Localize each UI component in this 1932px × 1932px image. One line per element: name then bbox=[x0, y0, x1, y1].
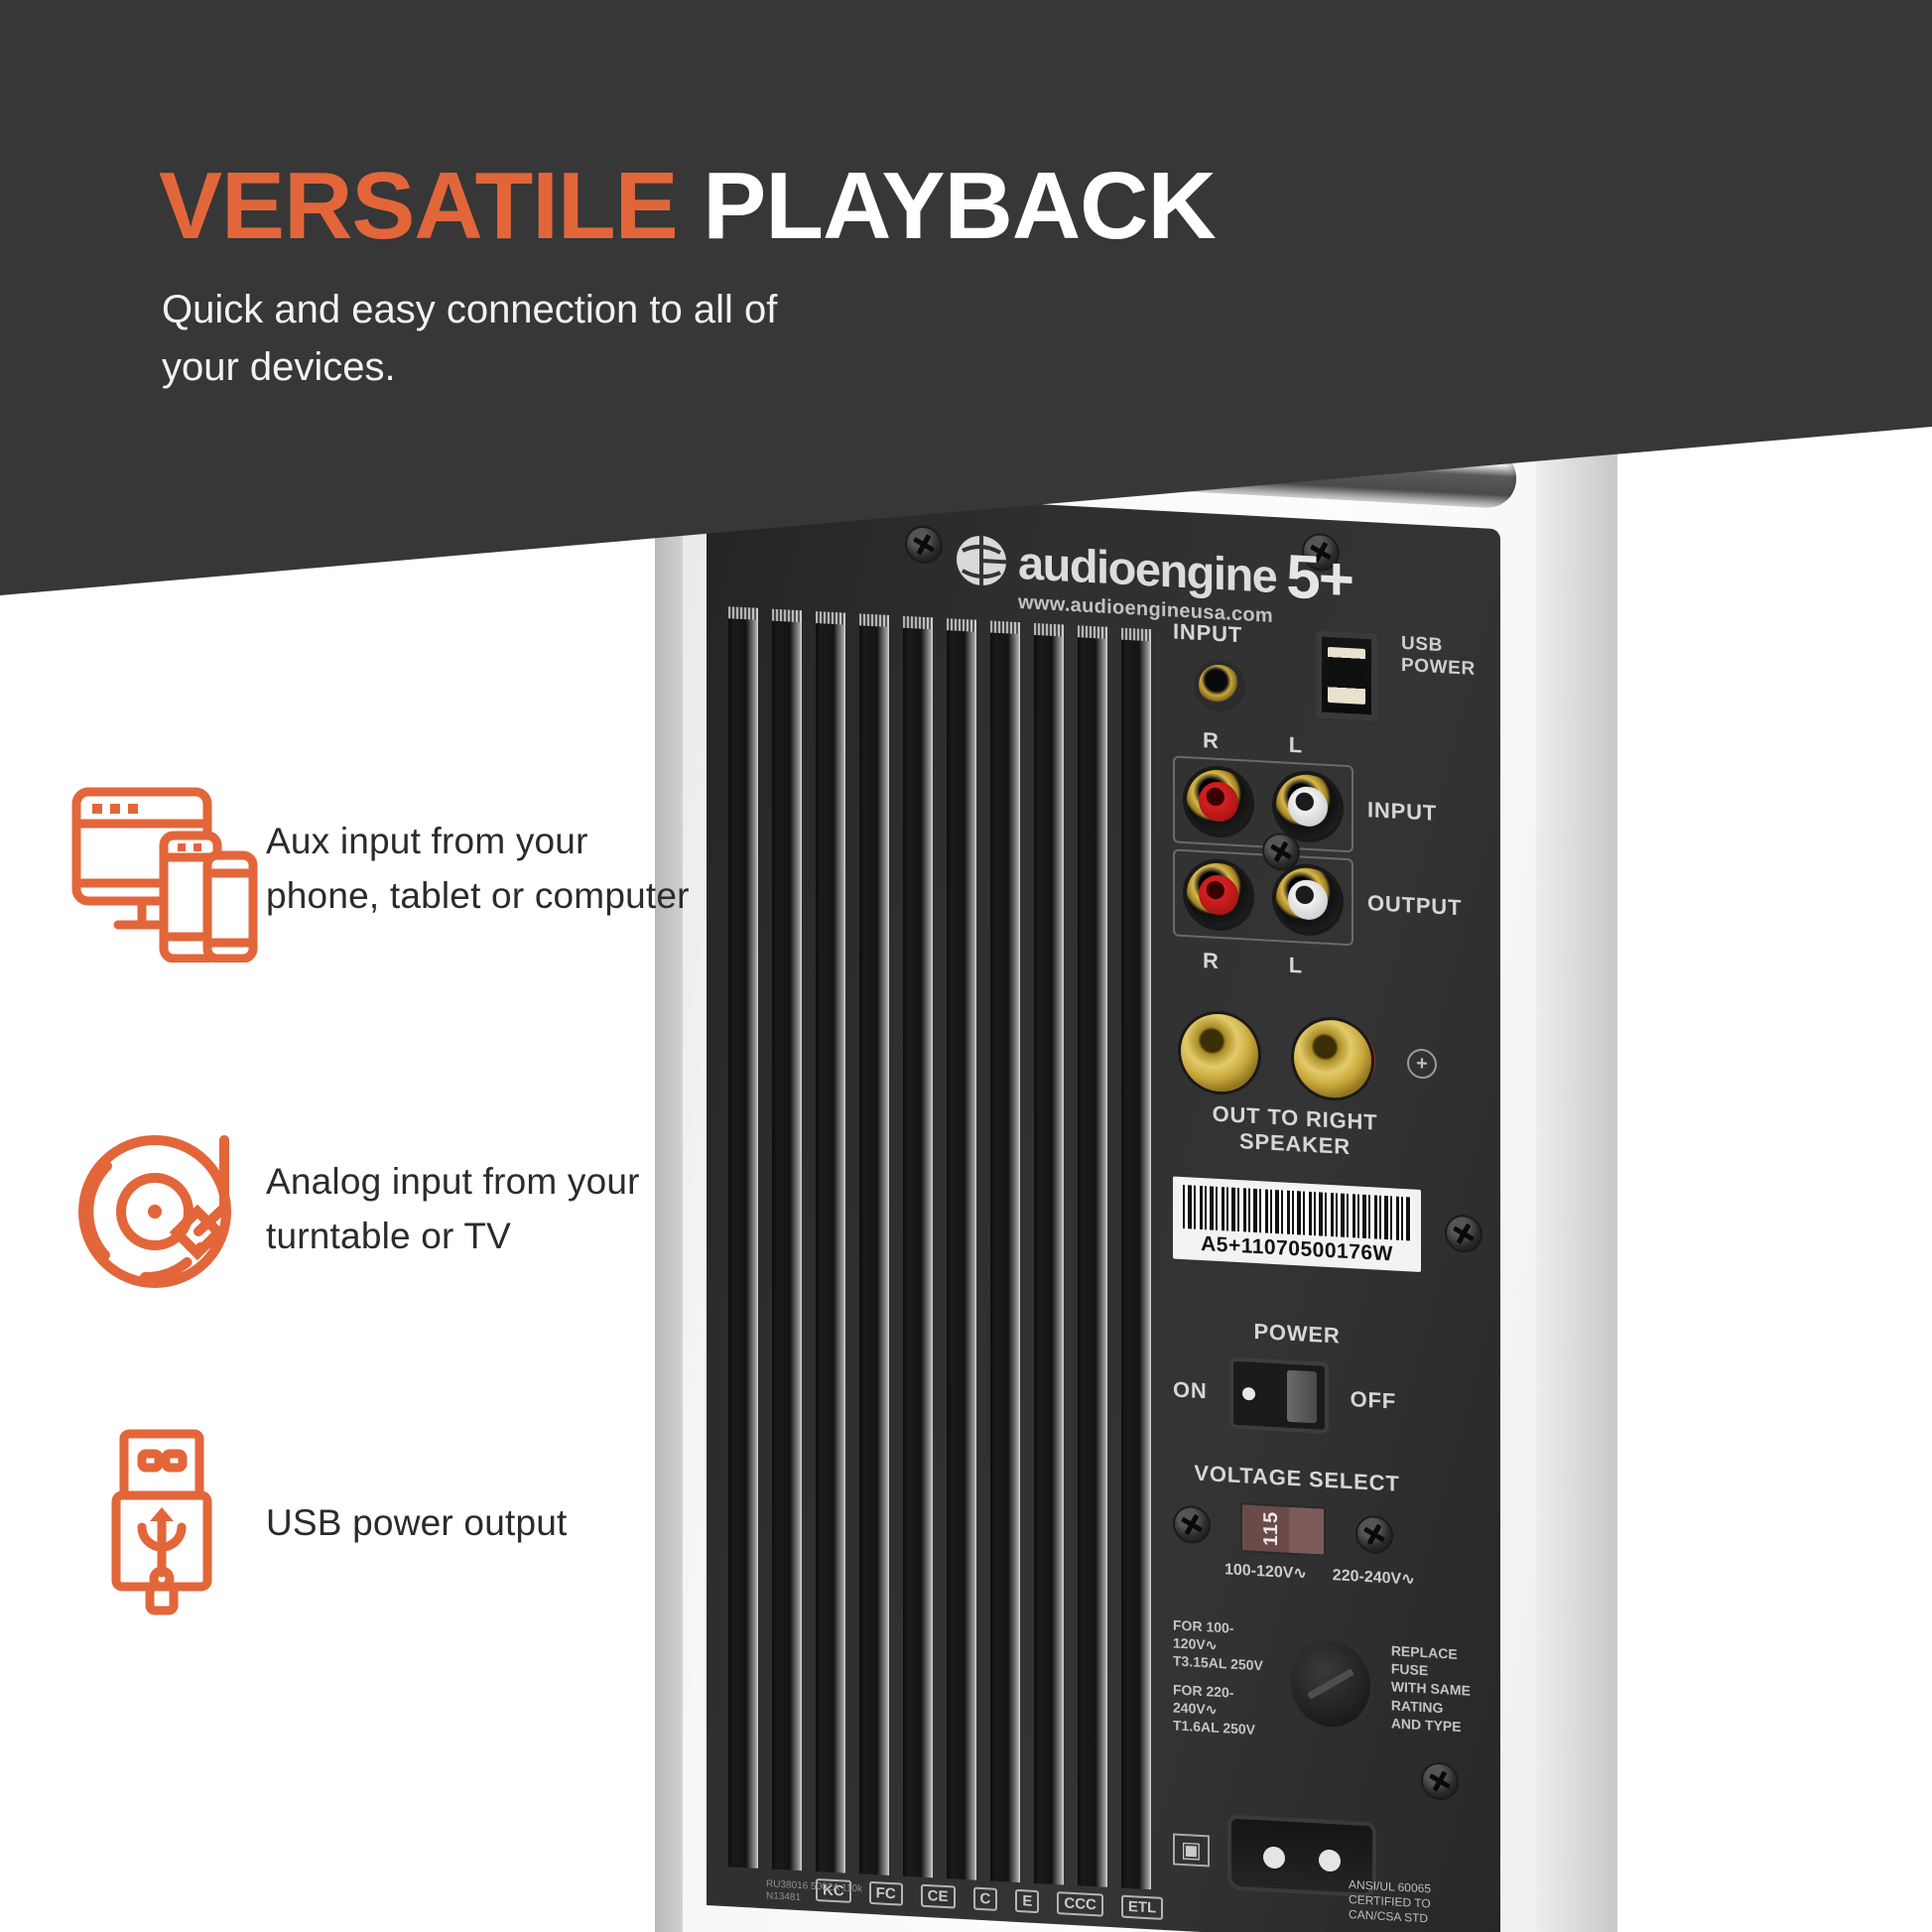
fuse-note-line1: REPLACE FUSE bbox=[1391, 1641, 1490, 1683]
headline-accent-word: VERSATILE bbox=[159, 153, 678, 259]
panel-screw-voltage-right bbox=[1355, 1514, 1393, 1554]
page-subtitle: Quick and easy connection to all of your… bbox=[162, 281, 797, 396]
devices-icon bbox=[58, 774, 266, 963]
brand-logo: audioengine 5+ www.audioengineusa.com bbox=[955, 524, 1352, 633]
c-tick-mark-icon: C bbox=[973, 1887, 998, 1911]
page-title: VERSATILE PLAYBACK bbox=[159, 157, 1216, 257]
power-off-label: OFF bbox=[1351, 1386, 1396, 1415]
feature-label-analog-input: Analog input from your turntable or TV bbox=[266, 1154, 693, 1264]
fcc-mark-icon: FC bbox=[869, 1881, 903, 1906]
compliance-line3: CAN/CSA STD bbox=[1349, 1907, 1431, 1926]
panel-screw-barcode bbox=[1445, 1214, 1482, 1253]
subtitle-line-2: your devices. bbox=[162, 338, 797, 396]
panel-screw-voltage-left bbox=[1173, 1504, 1211, 1544]
rca-input-left-jack[interactable] bbox=[1276, 773, 1340, 839]
rca-input-group bbox=[1173, 755, 1353, 852]
turntable-icon bbox=[58, 1122, 266, 1296]
aux-jack-35mm[interactable] bbox=[1199, 664, 1240, 708]
binding-plus-icon: + bbox=[1407, 1048, 1437, 1080]
power-label: POWER bbox=[1173, 1314, 1421, 1353]
rca-output-group bbox=[1173, 848, 1353, 946]
binding-post-negative[interactable] bbox=[1181, 1012, 1258, 1094]
power-rocker-switch[interactable] bbox=[1229, 1357, 1329, 1434]
rca-bottom-l-label: L bbox=[1289, 953, 1303, 979]
fuse-rating-line1: FOR 100-120V∿ bbox=[1173, 1615, 1270, 1657]
rca-output-label: OUTPUT bbox=[1367, 890, 1462, 921]
subtitle-line-1: Quick and easy connection to all of bbox=[162, 281, 797, 338]
rca-top-l-label: L bbox=[1289, 732, 1303, 759]
rca-bottom-r-label: R bbox=[1203, 948, 1220, 974]
ccc-mark-icon: CCC bbox=[1057, 1891, 1103, 1917]
rca-input-label: INPUT bbox=[1367, 797, 1437, 827]
panel-screw-top-left bbox=[905, 525, 943, 565]
feature-label-aux-input: Aux input from your phone, tablet or com… bbox=[266, 814, 693, 924]
amplifier-back-panel: audioengine 5+ www.audioengineusa.com IN… bbox=[707, 486, 1500, 1932]
marketing-slide: audioengine 5+ www.audioengineusa.com IN… bbox=[0, 0, 1932, 1932]
voltage-select-label: VOLTAGE SELECT bbox=[1173, 1459, 1421, 1498]
etl-mark-icon: ETL bbox=[1121, 1895, 1163, 1920]
e-mark-icon: E bbox=[1015, 1889, 1039, 1913]
heatsink bbox=[728, 606, 1155, 1889]
feature-item-analog-input: Analog input from your turntable or TV bbox=[58, 1085, 693, 1333]
voltage-value: 115 bbox=[1260, 1511, 1283, 1548]
binding-post-positive[interactable] bbox=[1294, 1018, 1371, 1099]
class-ii-icon: ▣ bbox=[1173, 1834, 1210, 1868]
panel-screw-bottom-right bbox=[1421, 1761, 1459, 1801]
ce-mark-icon: CE bbox=[921, 1884, 956, 1909]
serial-barcode-label: A5+11070500176W bbox=[1173, 1176, 1421, 1272]
audioengine-globe-icon bbox=[955, 532, 1008, 588]
rca-output-right-jack[interactable] bbox=[1187, 861, 1250, 928]
feature-item-aux-input: Aux input from your phone, tablet or com… bbox=[58, 749, 693, 987]
headline-plain-word: PLAYBACK bbox=[703, 153, 1216, 259]
voltage-low-label: 100-120V∿ bbox=[1224, 1559, 1307, 1583]
usb-a-port[interactable] bbox=[1316, 630, 1377, 720]
voltage-high-label: 220-240V∿ bbox=[1333, 1565, 1415, 1589]
usb-power-label-line2: POWER bbox=[1401, 655, 1476, 681]
model-name: 5+ bbox=[1286, 542, 1352, 616]
rca-input-right-jack[interactable] bbox=[1187, 768, 1250, 835]
rca-output-left-jack[interactable] bbox=[1276, 866, 1340, 933]
usb-plug-icon bbox=[58, 1424, 266, 1622]
rca-top-r-label: R bbox=[1203, 727, 1220, 754]
feature-list: Aux input from your phone, tablet or com… bbox=[58, 749, 693, 1642]
panel-id-fineprint: RU38016 5002A 110k N13481 bbox=[766, 1878, 862, 1907]
compliance-fineprint: ANSI/UL 60065 CERTIFIED TO CAN/CSA STD bbox=[1349, 1877, 1431, 1926]
connector-column: INPUT USB POWER R L bbox=[1173, 618, 1490, 1903]
fuse-holder-cap[interactable] bbox=[1288, 1635, 1373, 1732]
fuse-rating-line3: FOR 220-240V∿ bbox=[1173, 1680, 1270, 1722]
feature-label-usb-power: USB power output bbox=[266, 1495, 567, 1551]
feature-item-usb-power: USB power output bbox=[58, 1404, 693, 1642]
aux-input-label: INPUT bbox=[1173, 618, 1292, 650]
voltage-select-switch[interactable]: 115 bbox=[1240, 1502, 1326, 1557]
speaker-photo: audioengine 5+ www.audioengineusa.com IN… bbox=[655, 337, 1932, 1932]
power-on-label: ON bbox=[1173, 1376, 1208, 1404]
